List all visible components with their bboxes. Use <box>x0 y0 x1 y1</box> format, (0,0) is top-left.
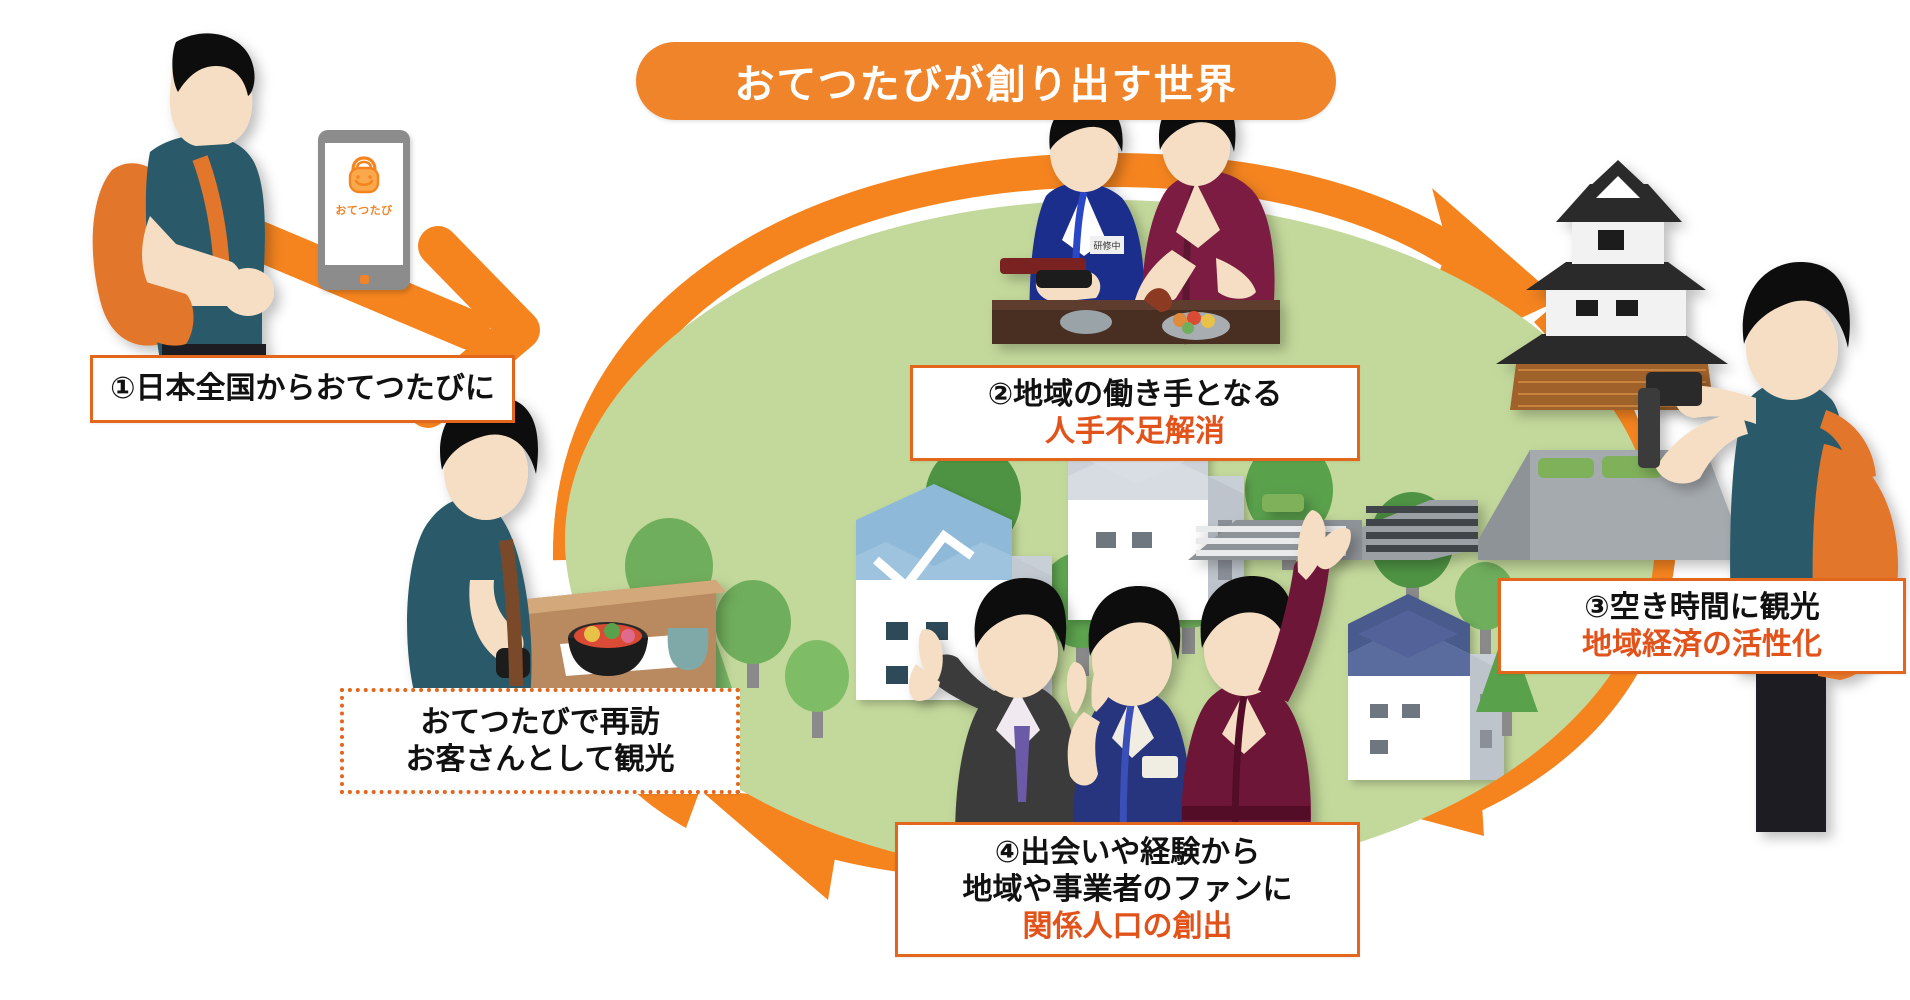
phone-app-name: おてつたび <box>318 202 410 218</box>
callout-line: ④出会いや経験から <box>995 834 1260 871</box>
callout-line: 地域や事業者のファンに <box>963 871 1293 908</box>
callout-line: ②地域の働き手となる <box>988 376 1283 413</box>
phone-home-button <box>360 275 369 284</box>
callout-line: ①日本全国からおてつたびに <box>110 370 495 407</box>
infographic-canvas: 研修中 <box>0 0 1910 1000</box>
callout-line: おてつたびで再訪 <box>420 704 659 741</box>
smartphone-mockup: おてつたび <box>318 130 410 290</box>
backpack-icon <box>345 156 383 201</box>
callout-step-1: ①日本全国からおてつたびに <box>90 355 515 423</box>
callout-revisit: おてつたびで再訪 お客さんとして観光 <box>340 688 740 794</box>
callout-line: お客さんとして観光 <box>405 741 674 778</box>
svg-text:研修中: 研修中 <box>1093 240 1120 252</box>
callout-step-2: ②地域の働き手となる 人手不足解消 <box>910 365 1360 461</box>
callout-step-4: ④出会いや経験から 地域や事業者のファンに 関係人口の創出 <box>895 822 1360 957</box>
callout-line-accent: 地域経済の活性化 <box>1582 626 1822 663</box>
callout-step-3: ③空き時間に観光 地域経済の活性化 <box>1498 578 1906 674</box>
callout-line-accent: 人手不足解消 <box>1045 413 1225 450</box>
callout-line: ③空き時間に観光 <box>1584 589 1819 626</box>
traveler-with-backpack-illustration <box>93 33 274 380</box>
page-title: おてつたびが創り出す世界 <box>636 42 1336 120</box>
page-title-text: おてつたびが創り出す世界 <box>734 52 1237 110</box>
callout-line-accent: 関係人口の創出 <box>1023 908 1233 945</box>
